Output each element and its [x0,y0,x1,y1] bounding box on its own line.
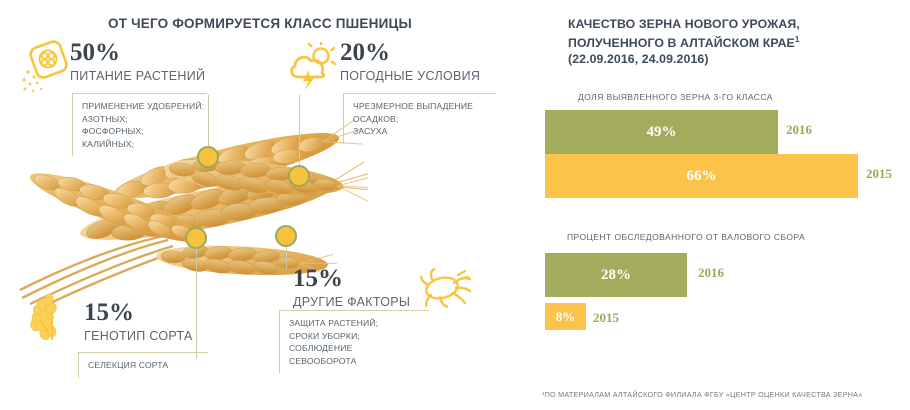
factor-nutrition: 50% ПИТАНИЕ РАСТЕНИЙ [70,40,205,83]
factor-nutrition-percent: 50% [70,40,205,65]
factor-other-details: ЗАЩИТА РАСТЕНИЙ; СРОКИ УБОРКИ; СОБЛЮДЕНИ… [279,310,429,373]
chart1-value-2016: 49% [545,124,778,141]
chart2-caption: ПРОЦЕНТ ОБСЛЕДОВАННОГО ОТ ВАЛОВОГО СБОРА [567,232,805,242]
chart2-year-2015: 2015 [593,310,619,326]
infographic-root: ОТ ЧЕГО ФОРМИРУЕТСЯ КЛАСС ПШЕНИЦЫ [0,0,910,410]
left-panel-title: ОТ ЧЕГО ФОРМИРУЕТСЯ КЛАСС ПШЕНИЦЫ [0,16,520,31]
right-panel: КАЧЕСТВО ЗЕРНА НОВОГО УРОЖАЯ, ПОЛУЧЕННОГ… [530,0,910,410]
right-title-line3: (22.09.2016, 24.09.2016) [568,52,709,66]
left-panel: ОТ ЧЕГО ФОРМИРУЕТСЯ КЛАСС ПШЕНИЦЫ [0,0,530,410]
factor-genotype: 15% ГЕНОТИП СОРТА [84,300,193,343]
right-title-line1: КАЧЕСТВО ЗЕРНА НОВОГО УРОЖАЯ, [568,17,800,31]
chart1-year-2015: 2015 [866,166,892,182]
cloud-sun-lightning-icon [285,42,339,94]
right-panel-footnote: ¹ПО МАТЕРИАЛАМ АЛТАЙСКОГО ФИЛИАЛА ФГБУ «… [542,390,910,399]
marker-dot-genotype[interactable] [185,227,207,249]
factor-weather-details: ЧРЕЗМЕРНОЕ ВЫПАДЕНИЕ ОСАДКОВ; ЗАСУХА [343,93,496,144]
chart1-bar-2016: 49% [545,110,778,154]
factor-weather-label: ПОГОДНЫЕ УСЛОВИЯ [340,69,480,83]
factor-other-label: ДРУГИЕ ФАКТОРЫ [293,295,410,309]
factor-genotype-label: ГЕНОТИП СОРТА [84,329,193,343]
chart2-year-2016: 2016 [698,265,724,281]
marker-dot-weather[interactable] [288,165,310,187]
factor-nutrition-label: ПИТАНИЕ РАСТЕНИЙ [70,69,205,83]
right-title-line2: ПОЛУЧЕННОГО В АЛТАЙСКОМ КРАЕ [568,36,795,50]
chart2-value-2016: 28% [545,267,687,284]
chart2-value-2015: 8% [545,309,586,325]
factor-genotype-percent: 15% [84,300,193,325]
chart1-value-2015: 66% [545,168,858,185]
beetle-icon [420,266,472,308]
marker-dot-other[interactable] [275,225,297,247]
right-title-footnote-marker: 1 [795,35,800,44]
factor-other: 15% ДРУГИЕ ФАКТОРЫ [293,266,410,309]
fertilizer-icon [20,36,72,94]
chart1-bar-2015: 66% [545,154,858,198]
wheat-ear-icon [24,292,78,344]
factor-genotype-details: СЕЛЕКЦИЯ СОРТА [78,352,208,378]
chart2-bar-2016: 28% [545,253,687,297]
factor-weather: 20% ПОГОДНЫЕ УСЛОВИЯ [340,40,480,83]
factor-weather-percent: 20% [340,40,480,65]
chart1-caption: ДОЛЯ ВЫЯВЛЕННОГО ЗЕРНА 3-ГО КЛАССА [578,92,773,102]
right-panel-title: КАЧЕСТВО ЗЕРНА НОВОГО УРОЖАЯ, ПОЛУЧЕННОГ… [568,16,908,67]
factor-nutrition-details: ПРИМЕНЕНИЕ УДОБРЕНИЙ: АЗОТНЫХ; ФОСФОРНЫХ… [72,93,207,156]
factor-other-percent: 15% [293,266,410,291]
chart1-year-2016: 2016 [786,122,812,138]
chart2-bar-2015: 8% [545,303,586,330]
connector-line-3 [196,243,197,359]
